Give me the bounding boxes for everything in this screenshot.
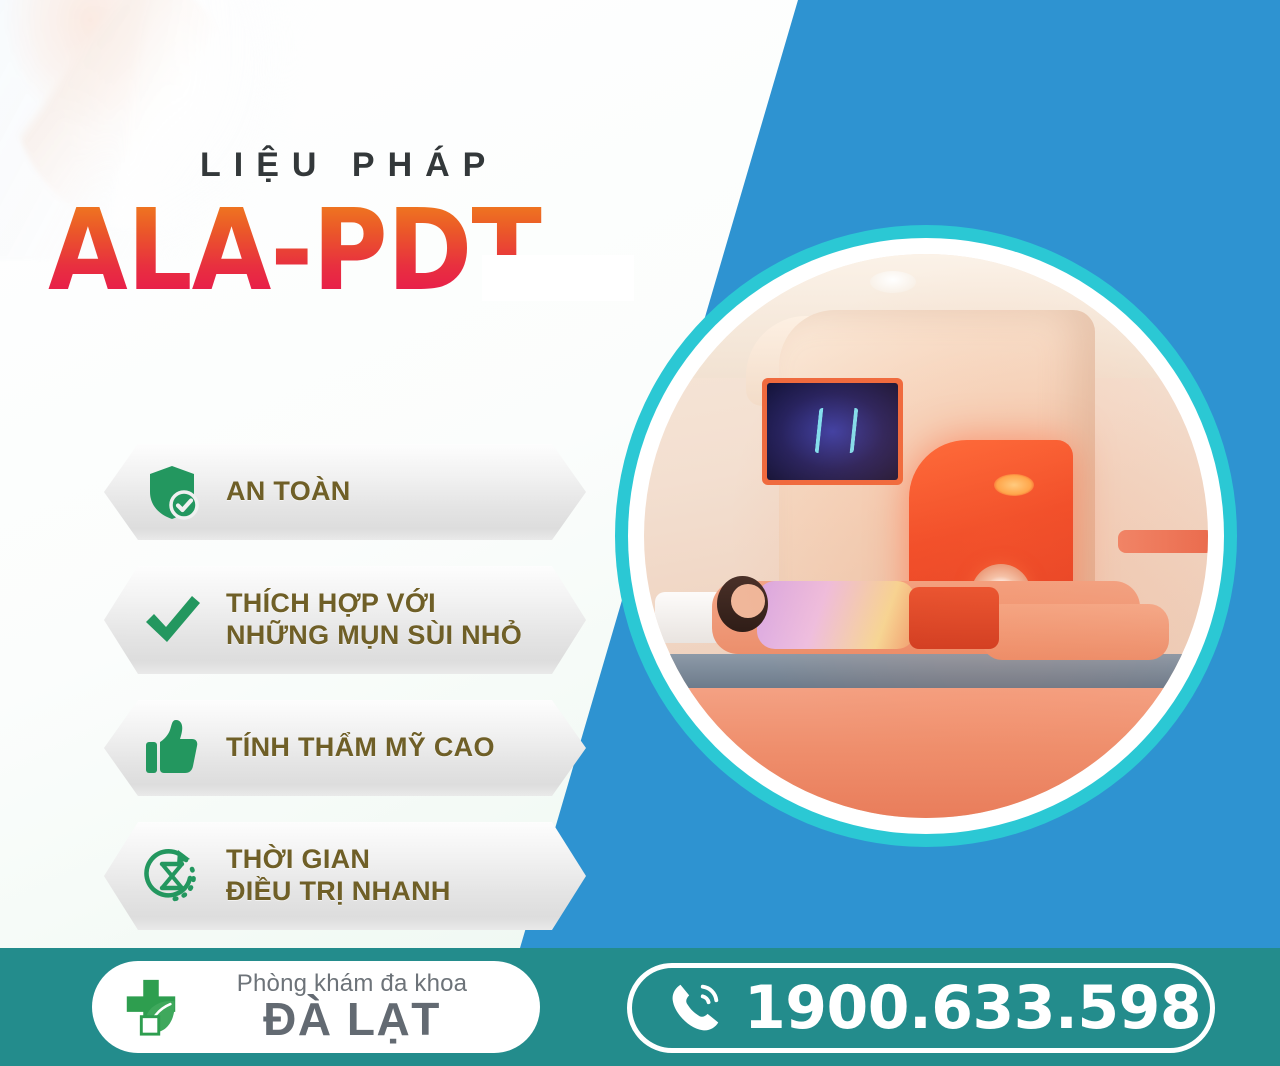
feature-badge-label: AN TOÀN [226, 476, 351, 508]
kicker-text: LIỆU PHÁP [200, 148, 668, 182]
feature-badge-label: TÍNH THẨM MỸ CAO [226, 732, 495, 764]
treatment-photo [644, 254, 1208, 818]
feature-badge-label: THÍCH HỢP VỚI NHỮNG MỤN SÙI NHỎ [226, 588, 522, 652]
shield-check-icon [140, 460, 204, 524]
thumbs-up-icon [140, 716, 204, 780]
clinic-name: ĐÀ LẠT [263, 993, 441, 1045]
feature-badge-list: AN TOÀN THÍCH HỢP VỚI NHỮNG MỤN SÙI NHỎ … [104, 444, 594, 956]
hotline-pill[interactable]: 1900.633.598 [627, 963, 1215, 1053]
treatment-photo-frame [628, 238, 1224, 834]
hotline-number: 1900.633.598 [744, 973, 1201, 1043]
check-mark-icon [140, 588, 204, 652]
clock-hourglass-icon [140, 844, 204, 908]
redacted-white-box [482, 255, 634, 301]
feature-badge-an-toan[interactable]: AN TOÀN [104, 444, 586, 540]
feature-badge-tham-my[interactable]: TÍNH THẨM MỸ CAO [104, 700, 586, 796]
feature-badge-thoi-gian[interactable]: THỜI GIAN ĐIỀU TRỊ NHANH [104, 822, 586, 930]
clinic-text-block: Phòng khám đa khoa ĐÀ LẠT [192, 972, 512, 1042]
clinic-logo-pill[interactable]: Phòng khám đa khoa ĐÀ LẠT [92, 961, 540, 1053]
green-cross-leaf-icon [120, 976, 182, 1038]
phone-ringing-icon [664, 977, 726, 1039]
feature-badge-thich-hop[interactable]: THÍCH HỢP VỚI NHỮNG MỤN SÙI NHỎ [104, 566, 586, 674]
poster-canvas: LIỆU PHÁP ALA-PDT AN TOÀN THÍCH HỢP VỚI … [0, 0, 1280, 1066]
feature-badge-label: THỜI GIAN ĐIỀU TRỊ NHANH [226, 844, 451, 908]
